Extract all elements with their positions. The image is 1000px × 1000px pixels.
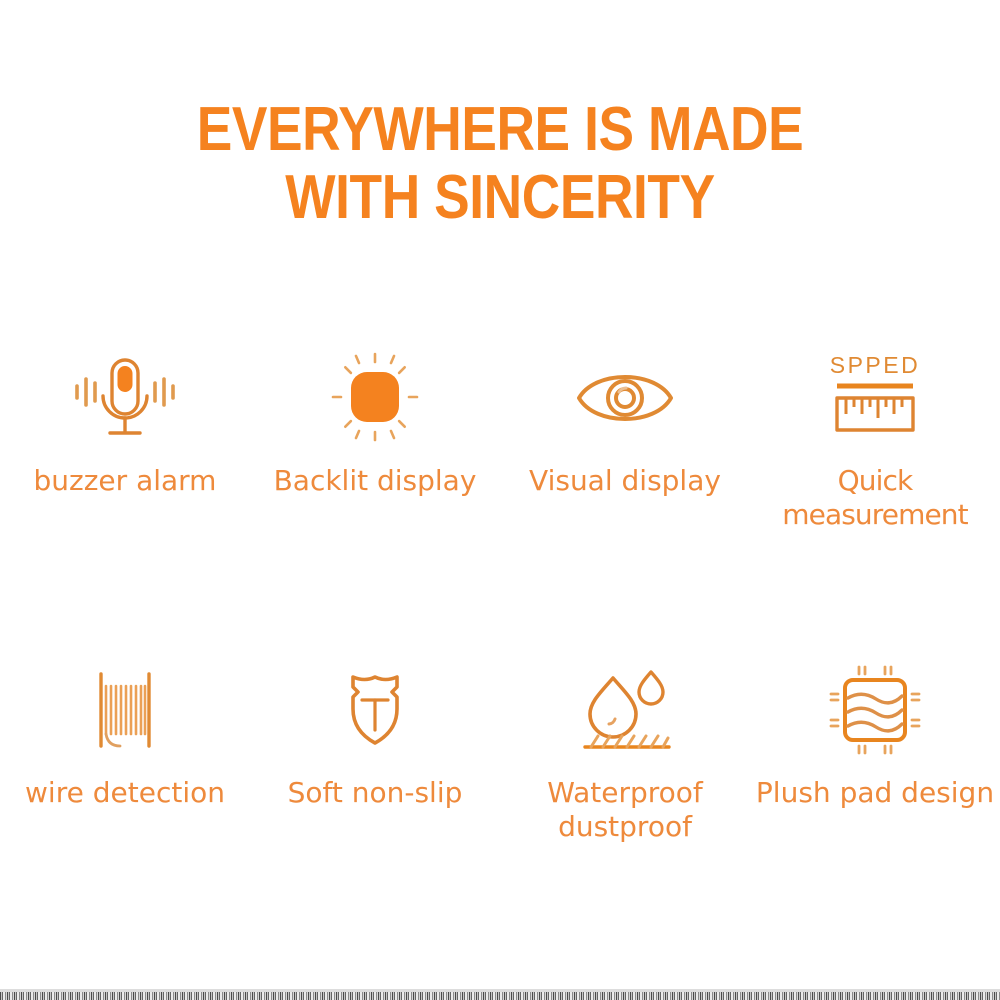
feature-item-quick-measurement: SPPED xyxy=(750,348,1000,532)
wire-coil-windings xyxy=(106,686,145,734)
feature-item-visual-display: Visual display xyxy=(500,348,750,532)
wire-tail xyxy=(106,734,120,746)
droplet-small xyxy=(639,672,663,704)
feature-grid: buzzer alarm xyxy=(0,348,1000,844)
feature-label: Quick measurement xyxy=(750,464,1000,532)
feature-item-plush-pad-design: Plush pad design xyxy=(750,660,1000,844)
icon-container xyxy=(320,660,430,760)
page-title: EVERYWHERE IS MADE WITH SINCERITY xyxy=(70,96,930,232)
feature-item-buzzer-alarm: buzzer alarm xyxy=(0,348,250,532)
feature-item-waterproof-dustproof: Waterproof dustproof xyxy=(500,660,750,844)
icon-container xyxy=(565,348,685,448)
feature-label: Waterproof dustproof xyxy=(547,776,703,844)
icon-container xyxy=(320,348,430,448)
icon-container xyxy=(70,660,180,760)
icon-container xyxy=(815,660,935,760)
scan-artifact-strip xyxy=(0,992,1000,1000)
ruler-speed-icon: SPPED xyxy=(815,348,935,448)
droplet-highlight xyxy=(609,719,615,724)
icon-container: SPPED xyxy=(815,348,935,448)
feature-item-soft-non-slip: Soft non-slip xyxy=(250,660,500,844)
feature-label: Plush pad design xyxy=(756,776,994,810)
feature-item-backlit-display: Backlit display xyxy=(250,348,500,532)
promo-feature-page: EVERYWHERE IS MADE WITH SINCERITY xyxy=(0,0,1000,1000)
icon-container xyxy=(565,660,685,760)
shield-letter-t xyxy=(362,700,388,730)
water-droplets-surface-icon xyxy=(565,660,685,760)
feature-label: wire detection xyxy=(25,776,225,810)
wire-spool-icon xyxy=(70,660,180,760)
feature-row-2: wire detection Soft non-slip xyxy=(0,660,1000,844)
microphone-capsule-fill xyxy=(118,366,133,392)
ruler-ticks xyxy=(846,398,902,418)
feature-item-wire-detection: wire detection xyxy=(0,660,250,844)
sun-body xyxy=(351,372,399,422)
droplet-large xyxy=(590,678,636,737)
eye-icon xyxy=(565,348,685,448)
feature-label: buzzer alarm xyxy=(34,464,217,498)
brightness-sun-icon xyxy=(320,348,430,448)
pad-waves xyxy=(848,694,902,731)
feature-label: Soft non-slip xyxy=(288,776,463,810)
feature-label: Backlit display xyxy=(274,464,477,498)
plush-pad-waves-icon xyxy=(815,660,935,760)
ruler-speed-label: SPPED xyxy=(830,352,920,378)
shield-t-icon xyxy=(320,660,430,760)
feature-row-1: buzzer alarm xyxy=(0,348,1000,532)
icon-container xyxy=(65,348,185,448)
microphone-sound-waves-icon xyxy=(65,348,185,448)
feature-label: Visual display xyxy=(529,464,721,498)
